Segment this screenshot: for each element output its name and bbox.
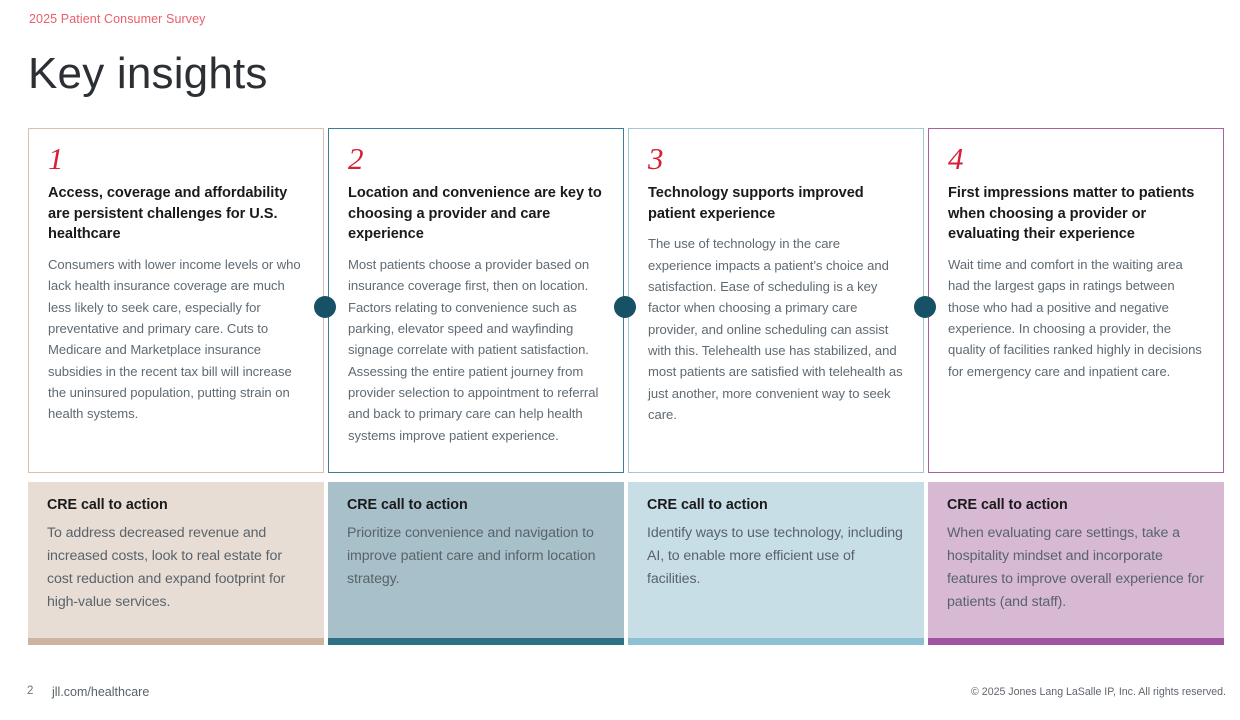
insight-body: Most patients choose a provider based on… [348,254,606,446]
footer-page-number: 2 [27,685,33,697]
insight-column-3: 3 Technology supports improved patient e… [628,128,924,645]
insight-body: The use of technology in the care experi… [648,233,906,425]
insight-number: 3 [648,143,906,174]
insight-card[interactable]: 3 Technology supports improved patient e… [628,128,924,473]
cta-title: CRE call to action [47,497,306,513]
cta-card[interactable]: CRE call to action Prioritize convenienc… [328,482,624,645]
cta-card[interactable]: CRE call to action Identify ways to use … [628,482,924,645]
insight-headline: First impressions matter to patients whe… [948,183,1206,245]
insight-column-1: 1 Access, coverage and affordability are… [28,128,324,645]
cta-title: CRE call to action [647,497,906,513]
cta-body: Prioritize convenience and navigation to… [347,522,606,591]
connector-dot-icon [314,296,336,318]
card-gap [928,473,1224,482]
insight-headline: Location and convenience are key to choo… [348,183,606,245]
insight-column-4: 4 First impressions matter to patients w… [928,128,1224,645]
cta-card[interactable]: CRE call to action When evaluating care … [928,482,1224,645]
cta-card[interactable]: CRE call to action To address decreased … [28,482,324,645]
insight-card[interactable]: 2 Location and convenience are key to ch… [328,128,624,473]
insight-card[interactable]: 1 Access, coverage and affordability are… [28,128,324,473]
insight-column-2: 2 Location and convenience are key to ch… [328,128,624,645]
insight-card[interactable]: 4 First impressions matter to patients w… [928,128,1224,473]
insight-number: 2 [348,143,606,174]
cta-body: Identify ways to use technology, includi… [647,522,906,591]
slide-root: 2025 Patient Consumer Survey Key insight… [0,0,1240,720]
cta-title: CRE call to action [947,497,1206,513]
footer-url-link[interactable]: jll.com/healthcare [52,685,149,699]
card-gap [28,473,324,482]
cta-body: To address decreased revenue and increas… [47,522,306,615]
connector-dot-icon [914,296,936,318]
cta-title: CRE call to action [347,497,606,513]
insight-number: 4 [948,143,1206,174]
insight-headline: Technology supports improved patient exp… [648,183,906,224]
insight-body: Wait time and comfort in the waiting are… [948,254,1206,382]
insight-cards-row: 1 Access, coverage and affordability are… [28,128,1225,645]
insight-number: 1 [48,143,306,174]
page-title: Key insights [28,50,268,98]
eyebrow-label: 2025 Patient Consumer Survey [29,12,206,26]
cta-body: When evaluating care settings, take a ho… [947,522,1206,615]
insight-headline: Access, coverage and affordability are p… [48,183,306,245]
footer-copyright: © 2025 Jones Lang LaSalle IP, Inc. All r… [971,686,1226,698]
card-gap [328,473,624,482]
insight-body: Consumers with lower income levels or wh… [48,254,306,425]
card-gap [628,473,924,482]
connector-dot-icon [614,296,636,318]
